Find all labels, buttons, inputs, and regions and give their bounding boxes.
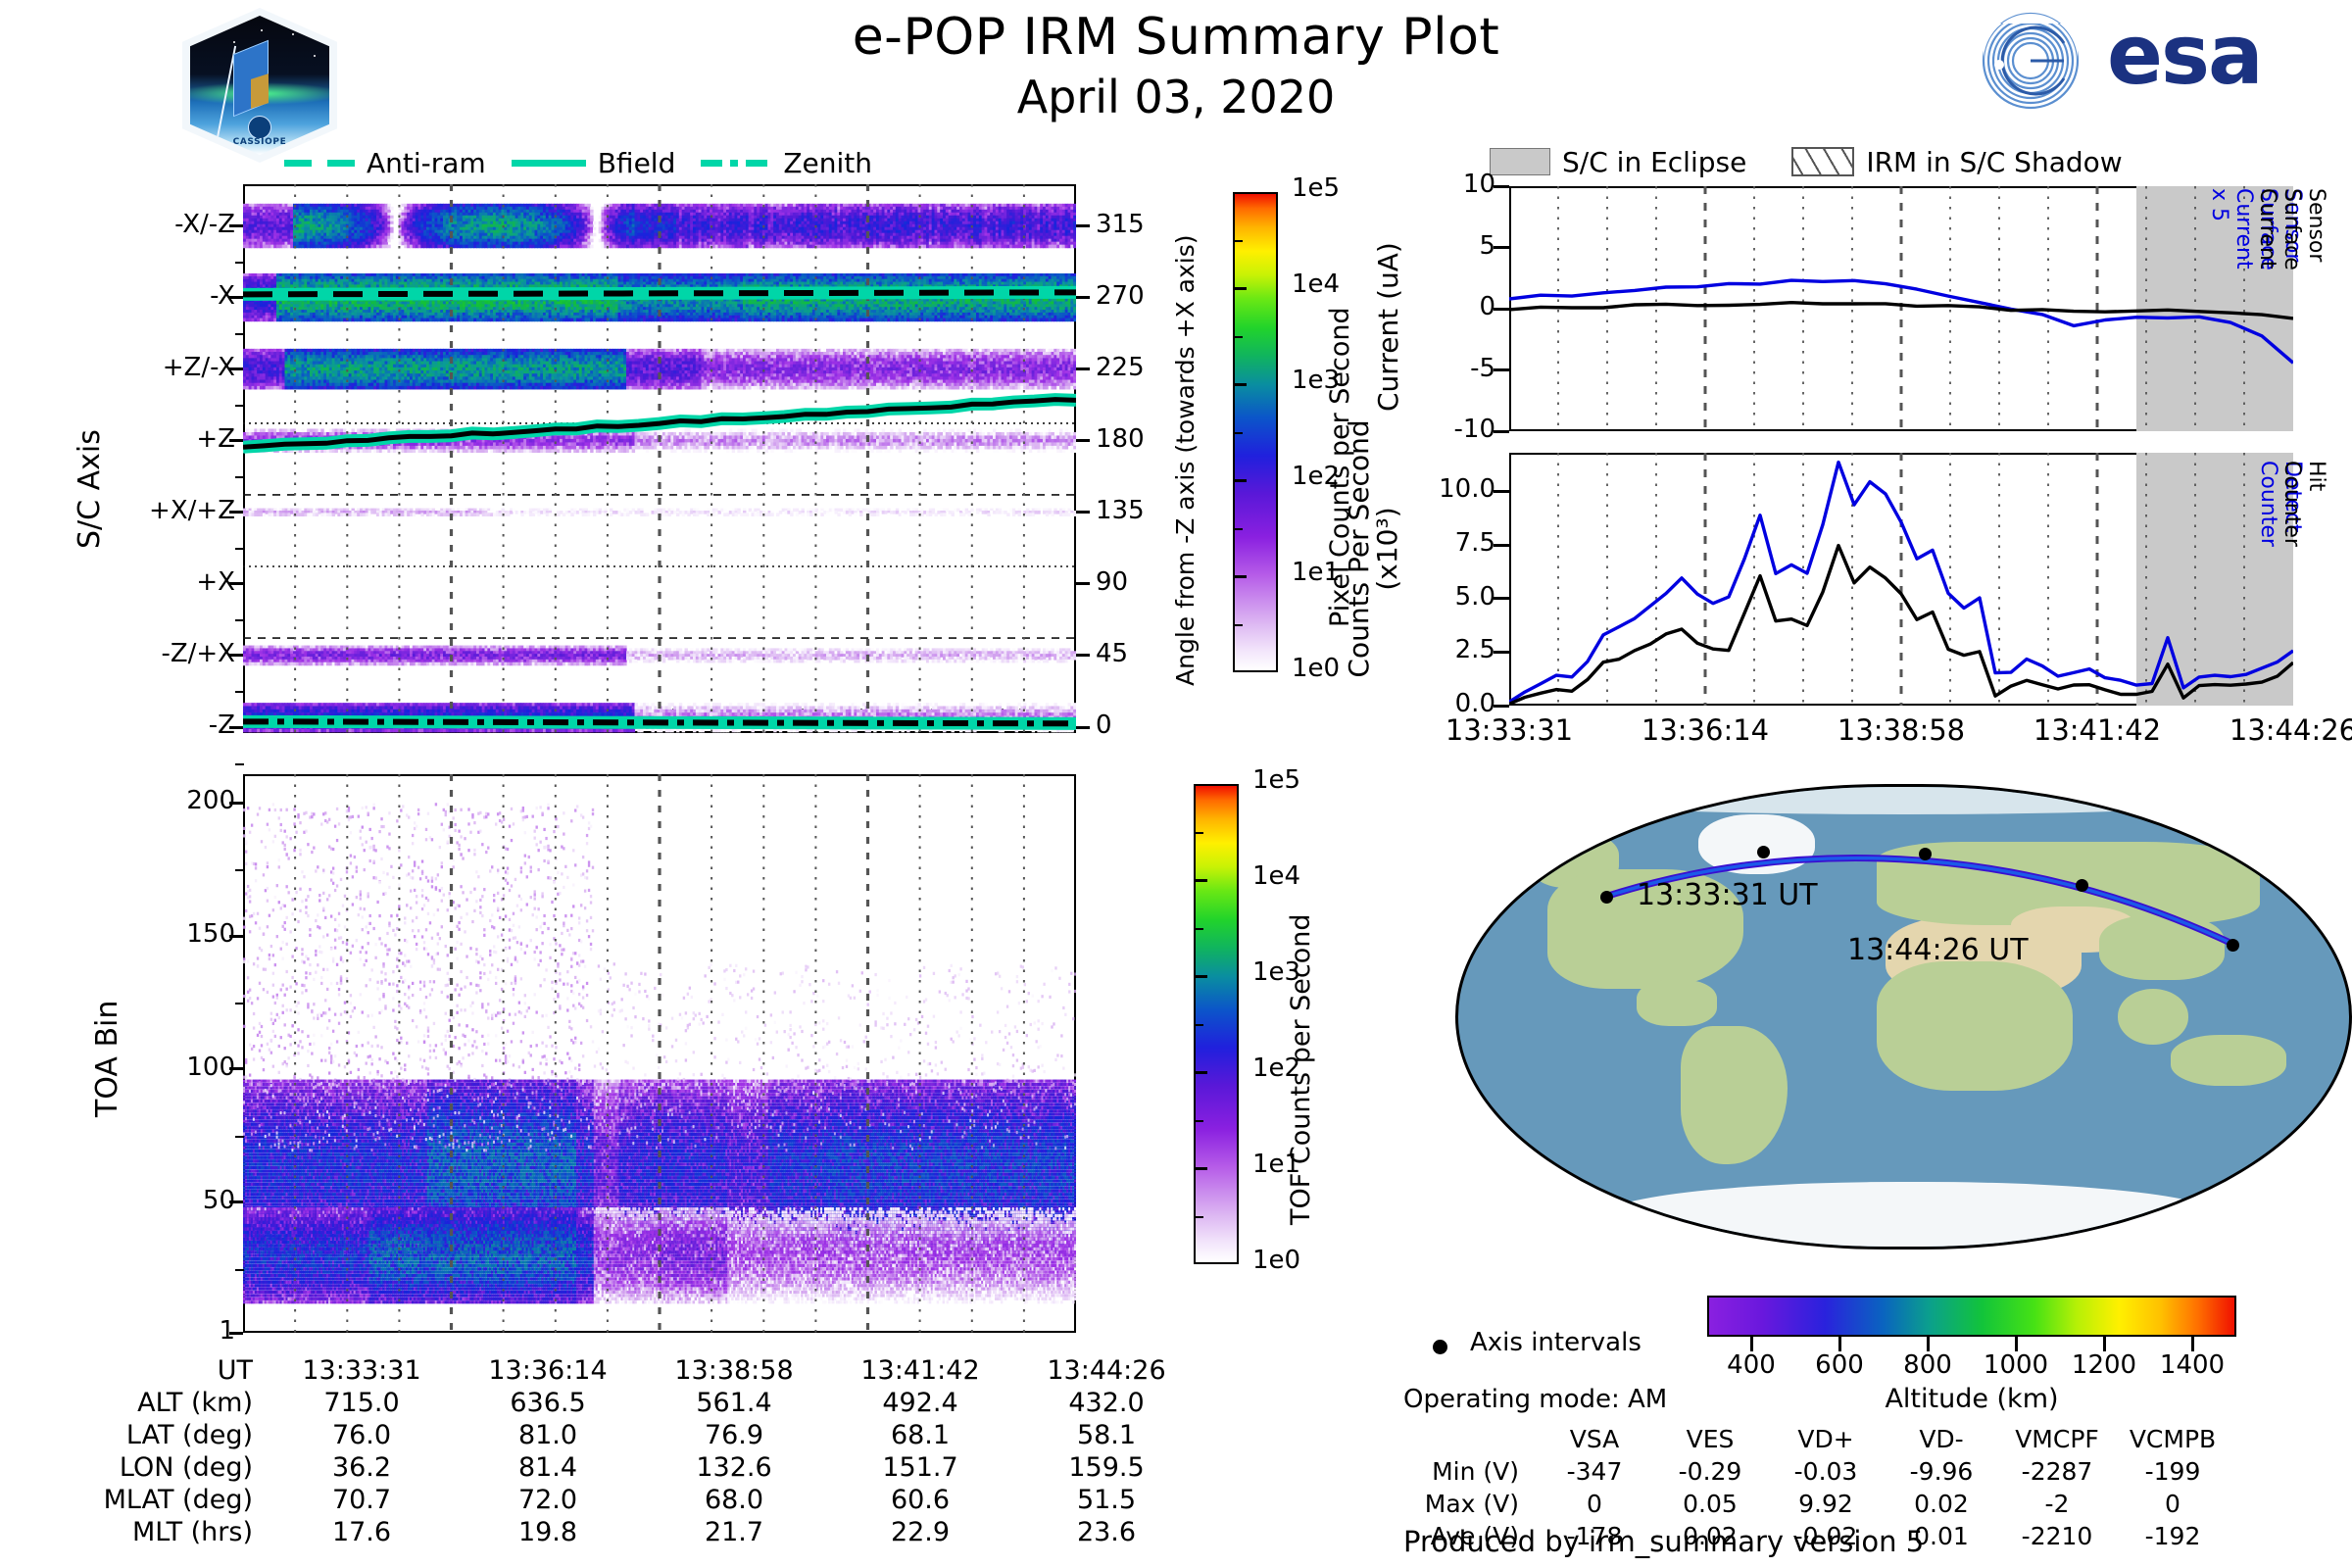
voltage-cell: -9.96 xyxy=(1884,1455,1999,1488)
toa-bin-ytick-2: 50 xyxy=(39,1186,235,1215)
legend-label-anti-ram: Anti-ram xyxy=(367,147,486,179)
sc-axis-ytick-3: +Z/-X xyxy=(39,353,235,382)
voltage-cell: -192 xyxy=(2115,1520,2230,1552)
cb-minor-tick xyxy=(1194,1024,1203,1026)
ytick-mark xyxy=(1494,597,1509,600)
shadow-hatch-swatch-icon xyxy=(1791,147,1854,176)
alt-cb-tick-mark xyxy=(2191,1337,2194,1351)
ephemeris-cell: 151.7 xyxy=(827,1451,1013,1484)
ephemeris-cell: 432.0 xyxy=(1013,1387,1200,1419)
voltage-cell: -199 xyxy=(2115,1455,2230,1488)
counts-timeseries-canvas xyxy=(1509,453,2293,706)
ephemeris-cell: 70.7 xyxy=(269,1484,455,1516)
ephemeris-cell: 13:38:58 xyxy=(641,1354,827,1387)
alt-cb-tick-1: 400 xyxy=(1716,1350,1787,1380)
ephemeris-cell: 492.4 xyxy=(827,1387,1013,1419)
voltage-column-header: VD+ xyxy=(1768,1423,1884,1455)
counts-timeseries-panel xyxy=(1509,453,2293,706)
minor-tick xyxy=(235,548,244,550)
axis-interval-marker-icon xyxy=(1433,1340,1447,1354)
alt-cb-tick-mark xyxy=(1927,1337,1930,1351)
voltage-corner-cell xyxy=(1403,1423,1537,1455)
alt-cb-tick-mark xyxy=(2015,1337,2018,1351)
cb-tick-mark xyxy=(1233,479,1247,482)
sc-axis-angle-tick-1: 315 xyxy=(1096,210,1145,239)
pixel-cb-tick-5: 1e4 xyxy=(1292,269,1340,299)
legend-item-sc-eclipse: S/C in Eclipse xyxy=(1490,146,1746,178)
ephemeris-row-label: ALT (km) xyxy=(57,1387,269,1419)
cb-tick-mark xyxy=(1194,879,1207,882)
cb-minor-tick xyxy=(1194,1216,1203,1218)
minor-tick xyxy=(235,619,244,621)
altitude-colorbar-label: Altitude (km) xyxy=(1707,1384,2236,1414)
ytick-mark xyxy=(1494,185,1509,188)
legend-label-sc-eclipse: S/C in Eclipse xyxy=(1562,146,1746,178)
ephemeris-row: MLT (hrs)17.619.821.722.923.6 xyxy=(57,1516,1200,1548)
voltage-cell: -2210 xyxy=(1999,1520,2115,1552)
minor-tick xyxy=(235,1269,244,1271)
voltage-cell: 0.05 xyxy=(1652,1488,1768,1520)
sc-axis-angle-tick-mark xyxy=(1076,726,1090,729)
voltage-cell: -347 xyxy=(1537,1455,1652,1488)
ytick-mark xyxy=(1494,430,1509,433)
sc-axis-ytick-5: +X/+Z xyxy=(39,496,235,525)
produced-by-label: Produced by irm_summary version 5 xyxy=(1403,1525,1924,1558)
alt-cb-tick-6: 1400 xyxy=(2157,1350,2228,1380)
alt-cb-tick-5: 1200 xyxy=(2069,1350,2139,1380)
ytick-mark xyxy=(1494,544,1509,547)
p3svg-ytick-2: -5 xyxy=(1392,354,1495,383)
esa-wordmark: esa xyxy=(2107,14,2262,96)
toa-bin-spectrogram-panel xyxy=(243,774,1076,1333)
cb-minor-tick xyxy=(1233,432,1243,434)
current-timeseries-canvas xyxy=(1509,186,2293,431)
p3svg-ytick-4: 5 xyxy=(1392,231,1495,261)
toa-bin-spectrogram-canvas xyxy=(243,774,1076,1333)
track-start-time-label: 13:33:31 UT xyxy=(1637,878,1818,912)
sc-axis-ytick-mark xyxy=(229,367,243,370)
alt-cb-tick-mark xyxy=(1750,1337,1753,1351)
toa-bin-ytick-mark xyxy=(229,1332,243,1335)
ephemeris-cell: 58.1 xyxy=(1013,1419,1200,1451)
voltage-cell: 9.92 xyxy=(1768,1488,1884,1520)
legend-item-irm-shadow: IRM in S/C Shadow xyxy=(1791,146,2122,178)
ephemeris-row: LAT (deg)76.081.076.968.158.1 xyxy=(57,1419,1200,1451)
cb-tick-mark xyxy=(1233,287,1247,290)
toa-bin-ytick-mark xyxy=(229,935,243,938)
current-right-label-black: Sensor Surface Current xyxy=(2255,188,2328,270)
minor-tick xyxy=(235,476,244,478)
pixel-cb-tick-6: 1e5 xyxy=(1292,173,1340,203)
ephemeris-cell: 17.6 xyxy=(269,1516,455,1548)
sc-axis-angle-tick-7: 45 xyxy=(1096,639,1128,668)
ephemeris-row: ALT (km)715.0636.5561.4492.4432.0 xyxy=(57,1387,1200,1419)
cb-minor-tick xyxy=(1194,928,1203,930)
cb-minor-tick xyxy=(1194,832,1203,834)
ephemeris-cell: 81.0 xyxy=(455,1419,641,1451)
legend-label-irm-shadow: IRM in S/C Shadow xyxy=(1866,146,2122,178)
sc-axis-angle-tick-mark xyxy=(1076,439,1090,442)
p4svg-ytick-5: 10.0 xyxy=(1392,474,1495,504)
sc-axis-angle-tick-mark xyxy=(1076,582,1090,585)
ytick-mark xyxy=(1494,308,1509,311)
sc-axis-angle-tick-5: 135 xyxy=(1096,496,1145,525)
p4svg-ytick-2: 2.5 xyxy=(1392,635,1495,664)
ephemeris-table: UT13:33:3113:36:1413:38:5813:41:4213:44:… xyxy=(57,1354,1200,1548)
toa-bin-ytick-mark xyxy=(229,802,243,805)
minor-tick xyxy=(235,1136,244,1138)
sc-axis-ytick-8: -Z xyxy=(39,710,235,740)
ephemeris-cell: 636.5 xyxy=(455,1387,641,1419)
sc-axis-ytick-mark xyxy=(229,224,243,227)
ytick-mark xyxy=(1494,651,1509,654)
tof-cb-tick-5: 1e4 xyxy=(1252,861,1300,891)
cassiope-mission-patch-icon: CASSIOPE xyxy=(182,8,337,163)
sc-axis-angle-tick-2: 270 xyxy=(1096,281,1145,311)
voltage-column-header: VES xyxy=(1652,1423,1768,1455)
ephemeris-cell: 561.4 xyxy=(641,1387,827,1419)
counts-right-label-black: Hit Counter xyxy=(2279,461,2328,547)
voltage-cell: -2287 xyxy=(1999,1455,2115,1488)
ephemeris-row-label: UT xyxy=(57,1354,269,1387)
anti-ram-line-swatch xyxy=(284,160,355,167)
sc-axis-ytick-4: +Z xyxy=(39,424,235,454)
world-globe xyxy=(1455,784,2352,1249)
counts-xtick-3: 13:38:58 xyxy=(1793,713,2009,747)
voltage-cell: 0.02 xyxy=(1884,1488,1999,1520)
ephemeris-cell: 19.8 xyxy=(455,1516,641,1548)
track-end-time-label: 13:44:26 UT xyxy=(1847,933,2029,967)
shading-legend: S/C in Eclipse IRM in S/C Shadow xyxy=(1490,145,2352,178)
p3svg-ytick-3: 0 xyxy=(1392,292,1495,321)
sc-axis-ytick-2: -X xyxy=(39,281,235,311)
ephemeris-cell: 21.7 xyxy=(641,1516,827,1548)
counts-xtick-2: 13:36:14 xyxy=(1597,713,1813,747)
ephemeris-row: LON (deg)36.281.4132.6151.7159.5 xyxy=(57,1451,1200,1484)
sc-axis-ytick-mark xyxy=(229,511,243,514)
cb-minor-tick xyxy=(1233,528,1243,530)
eclipse-swatch-icon xyxy=(1490,148,1550,175)
voltage-row: Min (V)-347-0.29-0.03-9.96-2287-199 xyxy=(1403,1455,2230,1488)
cb-tick-mark xyxy=(1194,1167,1207,1170)
cb-tick-mark xyxy=(1194,1071,1207,1074)
cb-tick-mark xyxy=(1194,975,1207,978)
toa-bin-ytick-3: 100 xyxy=(39,1053,235,1082)
sc-axis-angle-tick-mark xyxy=(1076,224,1090,227)
track-marker xyxy=(1600,891,1613,904)
zenith-line-swatch xyxy=(701,160,771,167)
ephemeris-cell: 81.4 xyxy=(455,1451,641,1484)
cb-minor-tick xyxy=(1233,240,1243,242)
voltage-cell: 0 xyxy=(1537,1488,1652,1520)
sc-axis-ytick-mark xyxy=(229,654,243,657)
spectrogram-legend: Anti-ram Bfield Zenith xyxy=(284,145,990,180)
legend-label-bfield: Bfield xyxy=(598,147,676,179)
tof-counts-colorbar-label: TOF Counts per Second xyxy=(1286,914,1316,1226)
alt-cb-tick-4: 1000 xyxy=(1981,1350,2051,1380)
axis-intervals-legend-label: Axis intervals xyxy=(1470,1328,1641,1357)
sc-axis-angle-tick-mark xyxy=(1076,654,1090,657)
sc-axis-ytick-6: +X xyxy=(39,567,235,597)
minor-tick xyxy=(235,333,244,335)
pixel-cb-tick-1: 1e0 xyxy=(1292,654,1340,683)
sc-axis-spectrogram-panel xyxy=(243,184,1076,733)
voltage-cell: -0.03 xyxy=(1768,1455,1884,1488)
alt-cb-tick-mark xyxy=(2103,1337,2106,1351)
operating-mode-label: Operating mode: AM xyxy=(1403,1385,1667,1414)
sc-axis-ytick-mark xyxy=(229,296,243,299)
track-marker xyxy=(1757,846,1770,858)
p4svg-ytick-3: 5.0 xyxy=(1392,582,1495,612)
sc-axis-y2label: Angle from -Z axis (towards +X axis) xyxy=(1171,235,1200,687)
bfield-line-swatch xyxy=(512,160,586,167)
cb-tick-mark xyxy=(1233,383,1247,386)
voltage-cell: -0.29 xyxy=(1652,1455,1768,1488)
counts-xtick-4: 13:41:42 xyxy=(1989,713,2205,747)
minor-tick xyxy=(235,691,244,693)
ground-track-map: 13:33:31 UT 13:44:26 UT xyxy=(1455,784,2352,1249)
ephemeris-cell: 60.6 xyxy=(827,1484,1013,1516)
counts-xtick-1: 13:33:31 xyxy=(1401,713,1617,747)
sc-axis-ytick-mark xyxy=(229,439,243,442)
ephemeris-cell: 76.9 xyxy=(641,1419,827,1451)
ytick-mark xyxy=(1494,490,1509,493)
alt-cb-tick-3: 800 xyxy=(1892,1350,1963,1380)
voltage-header-row: VSAVESVD+VD-VMCPFVCMPB xyxy=(1403,1423,2230,1455)
p3svg-ytick-1: -10 xyxy=(1392,415,1495,444)
cb-minor-tick xyxy=(1194,1120,1203,1122)
ephemeris-row-label: LON (deg) xyxy=(57,1451,269,1484)
legend-label-zenith: Zenith xyxy=(783,147,872,179)
ephemeris-row: MLAT (deg)70.772.068.060.651.5 xyxy=(57,1484,1200,1516)
ephemeris-cell: 22.9 xyxy=(827,1516,1013,1548)
ytick-mark xyxy=(1494,368,1509,371)
ephemeris-cell: 13:36:14 xyxy=(455,1354,641,1387)
minor-tick xyxy=(235,869,244,871)
ephemeris-cell: 68.1 xyxy=(827,1419,1013,1451)
alt-cb-tick-2: 600 xyxy=(1804,1350,1875,1380)
sc-axis-angle-tick-8: 0 xyxy=(1096,710,1112,740)
ephemeris-cell: 13:33:31 xyxy=(269,1354,455,1387)
ephemeris-cell: 72.0 xyxy=(455,1484,641,1516)
ephemeris-cell: 132.6 xyxy=(641,1451,827,1484)
voltage-column-header: VCMPB xyxy=(2115,1423,2230,1455)
p4svg-ytick-4: 7.5 xyxy=(1392,528,1495,558)
cb-minor-tick xyxy=(1233,336,1243,338)
ephemeris-cell: 159.5 xyxy=(1013,1451,1200,1484)
sc-axis-angle-tick-4: 180 xyxy=(1096,424,1145,454)
sc-axis-spectrogram-canvas xyxy=(243,184,1076,733)
orbit-track-overlay xyxy=(1458,787,2352,1249)
ephemeris-row-label: MLT (hrs) xyxy=(57,1516,269,1548)
toa-bin-ytick-mark xyxy=(229,1067,243,1070)
voltage-cell: 0 xyxy=(2115,1488,2230,1520)
minor-tick xyxy=(235,1003,244,1004)
ephemeris-cell: 76.0 xyxy=(269,1419,455,1451)
sc-axis-ytick-7: -Z/+X xyxy=(39,639,235,668)
sc-axis-ytick-mark xyxy=(229,582,243,585)
ytick-mark xyxy=(1494,246,1509,249)
toa-bin-ytick-4: 150 xyxy=(39,919,235,949)
legend-item-bfield: Bfield xyxy=(512,147,676,179)
voltage-cell: -2 xyxy=(1999,1488,2115,1520)
ephemeris-row: UT13:33:3113:36:1413:38:5813:41:4213:44:… xyxy=(57,1354,1200,1387)
track-marker xyxy=(2076,879,2088,892)
voltage-column-header: VD- xyxy=(1884,1423,1999,1455)
sc-axis-ytick-mark xyxy=(229,726,243,729)
legend-item-zenith: Zenith xyxy=(701,147,872,179)
voltage-column-header: VMCPF xyxy=(1999,1423,2115,1455)
toa-bin-ytick-1: 1 xyxy=(39,1316,235,1346)
legend-item-anti-ram: Anti-ram xyxy=(284,147,486,179)
minor-tick xyxy=(235,262,244,264)
minor-tick xyxy=(235,405,244,407)
counts-xtick-5: 13:44:26 xyxy=(2185,713,2352,747)
alt-cb-tick-mark xyxy=(1838,1337,1841,1351)
toa-bin-ytick-5: 200 xyxy=(39,786,235,815)
voltage-row-label: Min (V) xyxy=(1403,1455,1537,1488)
ephemeris-cell: 13:41:42 xyxy=(827,1354,1013,1387)
voltage-row-label: Max (V) xyxy=(1403,1488,1537,1520)
sc-axis-angle-tick-mark xyxy=(1076,511,1090,514)
voltage-column-header: VSA xyxy=(1537,1423,1652,1455)
voltage-row: Max (V)00.059.920.02-20 xyxy=(1403,1488,2230,1520)
ephemeris-cell: 51.5 xyxy=(1013,1484,1200,1516)
track-marker xyxy=(1919,848,1932,860)
sc-axis-angle-tick-mark xyxy=(1076,296,1090,299)
cb-tick-mark xyxy=(1233,575,1247,578)
esa-logo: esa xyxy=(1970,10,2323,113)
ephemeris-cell: 36.2 xyxy=(269,1451,455,1484)
ephemeris-cell: 13:44:26 xyxy=(1013,1354,1200,1387)
ephemeris-cell: 715.0 xyxy=(269,1387,455,1419)
p3svg-ytick-5: 10 xyxy=(1392,170,1495,199)
tof-cb-tick-6: 1e5 xyxy=(1252,765,1300,795)
sc-axis-angle-tick-6: 90 xyxy=(1096,567,1128,597)
minor-tick xyxy=(235,763,244,765)
track-marker xyxy=(2227,939,2239,952)
sc-axis-angle-tick-3: 225 xyxy=(1096,353,1145,382)
ephemeris-cell: 23.6 xyxy=(1013,1516,1200,1548)
sc-axis-angle-tick-mark xyxy=(1076,367,1090,370)
esa-emblem-icon xyxy=(1970,10,2102,113)
ephemeris-row-label: LAT (deg) xyxy=(57,1419,269,1451)
altitude-colorbar xyxy=(1707,1296,2236,1337)
sc-axis-ytick-1: -X/-Z xyxy=(39,210,235,239)
current-timeseries-panel xyxy=(1509,186,2293,431)
ephemeris-row-label: MLAT (deg) xyxy=(57,1484,269,1516)
ytick-mark xyxy=(1494,705,1509,708)
current-ylabel: Current (uA) xyxy=(1372,242,1404,412)
ephemeris-cell: 68.0 xyxy=(641,1484,827,1516)
tof-cb-tick-1: 1e0 xyxy=(1252,1246,1300,1275)
cb-minor-tick xyxy=(1233,624,1243,626)
toa-bin-ytick-mark xyxy=(229,1200,243,1203)
